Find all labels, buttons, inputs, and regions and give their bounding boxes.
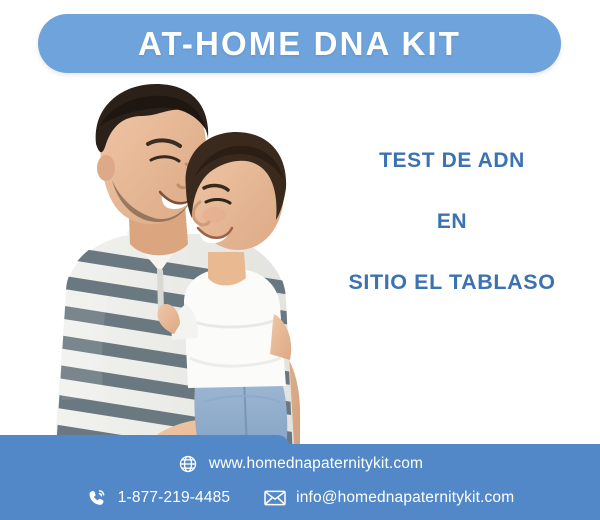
poster-canvas: AT-HOME DNA KIT	[0, 0, 600, 520]
father-and-child-photo	[8, 82, 338, 482]
headline-line-1: TEST DE ADN	[312, 150, 592, 171]
footer-phone[interactable]: 1-877-219-4485	[86, 487, 230, 509]
father-and-child-illustration	[8, 82, 338, 482]
phone-icon	[86, 487, 108, 509]
headline-line-2: EN	[312, 211, 592, 232]
headline-block: TEST DE ADN EN SITIO EL TABLASO	[312, 150, 592, 294]
footer-phone-text: 1-877-219-4485	[118, 489, 230, 507]
poster-title: AT-HOME DNA KIT	[138, 27, 461, 60]
footer-email[interactable]: info@homednapaternitykit.com	[264, 487, 514, 509]
title-banner: AT-HOME DNA KIT	[38, 14, 561, 73]
footer-website[interactable]: www.homednapaternitykit.com	[177, 453, 423, 475]
footer-website-text: www.homednapaternitykit.com	[209, 455, 423, 473]
envelope-icon	[264, 487, 286, 509]
footer-email-text: info@homednapaternitykit.com	[296, 489, 514, 507]
footer-contact-block: www.homednapaternitykit.com 1-877-219-44…	[0, 444, 600, 520]
headline-line-3: SITIO EL TABLASO	[312, 272, 592, 294]
globe-icon	[177, 453, 199, 475]
